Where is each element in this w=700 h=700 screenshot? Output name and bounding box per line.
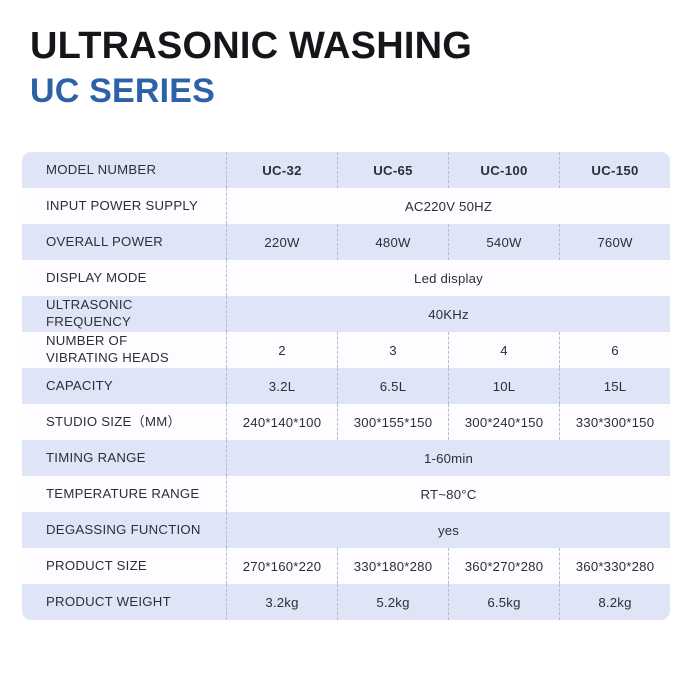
row-label-line1: PRODUCT SIZE: [46, 558, 147, 573]
row-value: 15L: [559, 368, 670, 404]
row-value: 3: [337, 332, 448, 368]
row-value-merged: Led display: [226, 260, 670, 296]
row-value: 4: [448, 332, 559, 368]
row-label: DISPLAY MODE: [22, 260, 226, 296]
row-label: NUMBER OFVIBRATING HEADS: [22, 332, 226, 368]
row-value: 270*160*220: [226, 548, 337, 584]
specification-table: MODEL NUMBERUC-32UC-65UC-100UC-150INPUT …: [22, 152, 670, 620]
row-value: 760W: [559, 224, 670, 260]
row-value: 480W: [337, 224, 448, 260]
table-row: INPUT POWER SUPPLYAC220V 50HZ: [22, 188, 670, 224]
row-value-merged: AC220V 50HZ: [226, 188, 670, 224]
table-row: DEGASSING FUNCTIONyes: [22, 512, 670, 548]
table-row: DISPLAY MODELed display: [22, 260, 670, 296]
row-label-line1: STUDIO SIZE（MM）: [46, 414, 181, 429]
row-label: OVERALL POWER: [22, 224, 226, 260]
row-label-line2: FREQUENCY: [46, 314, 226, 331]
table-row: OVERALL POWER220W480W540W760W: [22, 224, 670, 260]
row-label: MODEL NUMBER: [22, 152, 226, 188]
table-row: CAPACITY3.2L6.5L10L15L: [22, 368, 670, 404]
row-value: 330*180*280: [337, 548, 448, 584]
table-row: MODEL NUMBERUC-32UC-65UC-100UC-150: [22, 152, 670, 188]
row-label-line2: VIBRATING HEADS: [46, 350, 226, 367]
row-label-line1: NUMBER OF: [46, 333, 127, 348]
table-row: PRODUCT SIZE270*160*220330*180*280360*27…: [22, 548, 670, 584]
table-row: PRODUCT WEIGHT3.2kg5.2kg6.5kg8.2kg: [22, 584, 670, 620]
column-header-model: UC-100: [448, 152, 559, 188]
table-row: STUDIO SIZE（MM）240*140*100300*155*150300…: [22, 404, 670, 440]
row-label-line1: MODEL NUMBER: [46, 162, 156, 177]
row-value: 240*140*100: [226, 404, 337, 440]
page-title: ULTRASONIC WASHING: [30, 26, 670, 67]
row-label-line1: TIMING RANGE: [46, 450, 146, 465]
row-value: 220W: [226, 224, 337, 260]
row-label-line1: DISPLAY MODE: [46, 270, 147, 285]
row-label-line1: DEGASSING FUNCTION: [46, 522, 201, 537]
row-value: 5.2kg: [337, 584, 448, 620]
row-label: PRODUCT WEIGHT: [22, 584, 226, 620]
row-label: INPUT POWER SUPPLY: [22, 188, 226, 224]
row-label: DEGASSING FUNCTION: [22, 512, 226, 548]
row-value: 10L: [448, 368, 559, 404]
row-label: TIMING RANGE: [22, 440, 226, 476]
row-label-line1: OVERALL POWER: [46, 234, 163, 249]
table-row: TIMING RANGE1-60min: [22, 440, 670, 476]
row-label-line1: PRODUCT WEIGHT: [46, 594, 171, 609]
row-label: CAPACITY: [22, 368, 226, 404]
table-row: TEMPERATURE RANGERT~80°C: [22, 476, 670, 512]
column-header-model: UC-65: [337, 152, 448, 188]
table-row: ULTRASONICFREQUENCY40KHz: [22, 296, 670, 332]
row-value: 6: [559, 332, 670, 368]
row-value: 3.2L: [226, 368, 337, 404]
row-value: 3.2kg: [226, 584, 337, 620]
row-value: 6.5L: [337, 368, 448, 404]
row-value: 2: [226, 332, 337, 368]
row-label: ULTRASONICFREQUENCY: [22, 296, 226, 332]
row-label-line1: CAPACITY: [46, 378, 113, 393]
row-value: 360*330*280: [559, 548, 670, 584]
row-value-merged: yes: [226, 512, 670, 548]
column-header-model: UC-32: [226, 152, 337, 188]
row-value: 6.5kg: [448, 584, 559, 620]
row-label-line1: TEMPERATURE RANGE: [46, 486, 199, 501]
row-value: 330*300*150: [559, 404, 670, 440]
row-value-merged: 40KHz: [226, 296, 670, 332]
row-label: TEMPERATURE RANGE: [22, 476, 226, 512]
row-value: 360*270*280: [448, 548, 559, 584]
row-label: STUDIO SIZE（MM）: [22, 404, 226, 440]
row-value: 8.2kg: [559, 584, 670, 620]
column-header-model: UC-150: [559, 152, 670, 188]
page-subtitle: UC SERIES: [30, 73, 670, 110]
row-label-line1: INPUT POWER SUPPLY: [46, 198, 198, 213]
title-block: ULTRASONIC WASHING UC SERIES: [30, 26, 670, 110]
row-label-line1: ULTRASONIC: [46, 297, 133, 312]
row-label: PRODUCT SIZE: [22, 548, 226, 584]
row-value-merged: 1-60min: [226, 440, 670, 476]
row-value: 300*155*150: [337, 404, 448, 440]
table-row: NUMBER OFVIBRATING HEADS2346: [22, 332, 670, 368]
row-value: 300*240*150: [448, 404, 559, 440]
row-value-merged: RT~80°C: [226, 476, 670, 512]
row-value: 540W: [448, 224, 559, 260]
